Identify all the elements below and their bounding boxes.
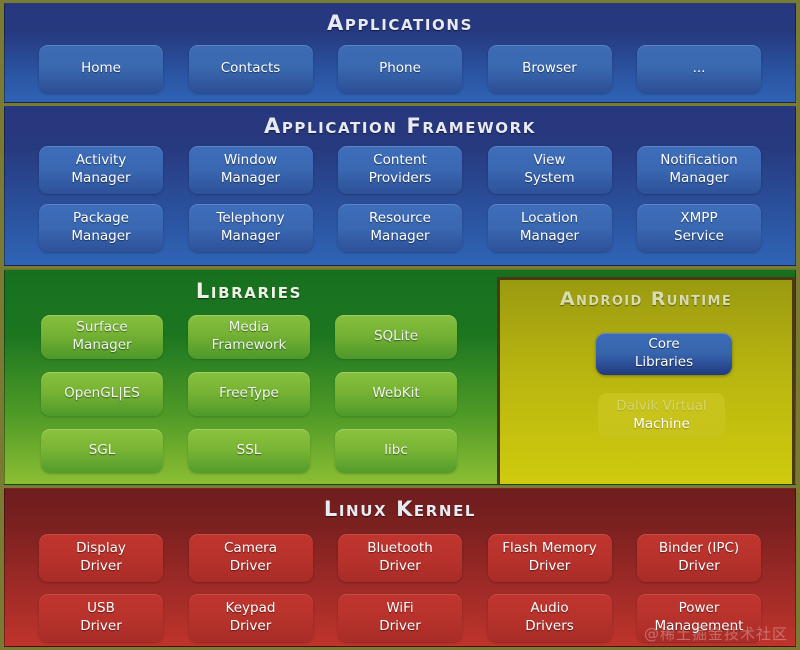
box-line-1: Camera — [224, 540, 277, 558]
kernel-box-display-driver[interactable]: Display Driver — [39, 534, 163, 582]
layer-title-linux-kernel: Linux Kernel — [5, 499, 795, 520]
box-line-2: Driver — [230, 558, 272, 576]
library-box-surface-manager[interactable]: Surface Manager — [41, 315, 163, 359]
libraries-row-2: OpenGL|ES FreeType WebKit — [5, 372, 493, 416]
box-line-2: Driver — [379, 558, 421, 576]
library-box-media-framework[interactable]: Media Framework — [188, 315, 310, 359]
box-line-1: XMPP — [680, 210, 717, 228]
layer-application-framework: Application Framework Activity Manager W… — [4, 106, 796, 266]
box-line-1: WebKit — [372, 385, 419, 403]
box-line-2: Libraries — [635, 354, 693, 372]
box-line-2: Manager — [669, 170, 728, 188]
kernel-box-binder-ipc-driver[interactable]: Binder (IPC) Driver — [637, 534, 761, 582]
library-box-libc[interactable]: libc — [335, 429, 457, 473]
box-line-1: Core — [648, 336, 679, 354]
box-line-1: View — [533, 152, 565, 170]
box-line-2: Driver — [230, 618, 272, 636]
box-line-1: WiFi — [386, 600, 413, 618]
box-line-1: Flash Memory — [502, 540, 597, 558]
box-line-1: Browser — [522, 60, 577, 78]
box-line-1: ... — [693, 60, 706, 78]
box-line-2: System — [524, 170, 574, 188]
layer-title-libraries: Libraries — [5, 281, 493, 302]
box-line-1: Location — [521, 210, 578, 228]
box-line-1: Display — [76, 540, 126, 558]
app-box-contacts[interactable]: Contacts — [189, 45, 313, 93]
box-line-1: SGL — [89, 442, 116, 460]
android-runtime-panel: Android Runtime Core Libraries Dalvik Vi… — [497, 277, 795, 485]
box-line-2: Management — [655, 618, 744, 636]
box-line-2: Manager — [72, 337, 131, 355]
box-line-2: Providers — [369, 170, 432, 188]
kernel-box-power-management[interactable]: Power Management — [637, 594, 761, 642]
framework-box-location-manager[interactable]: Location Manager — [488, 204, 612, 252]
box-line-2: Service — [674, 228, 724, 246]
box-line-2: Driver — [678, 558, 720, 576]
box-line-1: SQLite — [374, 328, 418, 346]
box-line-1: Audio — [530, 600, 568, 618]
box-line-1: Home — [81, 60, 121, 78]
kernel-box-audio-drivers[interactable]: Audio Drivers — [488, 594, 612, 642]
layer-linux-kernel: Linux Kernel Display Driver Camera Drive… — [4, 488, 796, 647]
box-line-1: Power — [679, 600, 720, 618]
framework-row-1: Activity Manager Window Manager Content … — [5, 146, 795, 194]
library-box-sgl[interactable]: SGL — [41, 429, 163, 473]
framework-box-window-manager[interactable]: Window Manager — [189, 146, 313, 194]
layer-title-application-framework: Application Framework — [5, 116, 795, 137]
library-box-ssl[interactable]: SSL — [188, 429, 310, 473]
kernel-box-keypad-driver[interactable]: Keypad Driver — [189, 594, 313, 642]
box-line-1: USB — [87, 600, 115, 618]
library-box-sqlite[interactable]: SQLite — [335, 315, 457, 359]
framework-box-telephony-manager[interactable]: Telephony Manager — [189, 204, 313, 252]
box-line-2: Driver — [80, 558, 122, 576]
framework-box-view-system[interactable]: View System — [488, 146, 612, 194]
box-line-2: Manager — [370, 228, 429, 246]
app-box-more[interactable]: ... — [637, 45, 761, 93]
box-line-1: Surface — [76, 319, 127, 337]
box-line-2: Manager — [221, 228, 280, 246]
library-box-freetype[interactable]: FreeType — [188, 372, 310, 416]
runtime-box-dalvik-virtual-machine[interactable]: Dalvik Virtual Machine — [598, 393, 725, 439]
box-line-1: Keypad — [226, 600, 276, 618]
box-line-2: Manager — [71, 170, 130, 188]
box-line-2: Machine — [633, 416, 690, 434]
box-line-1: Media — [229, 319, 270, 337]
libraries-row-3: SGL SSL libc — [5, 429, 493, 473]
framework-box-activity-manager[interactable]: Activity Manager — [39, 146, 163, 194]
box-line-1: Notification — [660, 152, 737, 170]
box-line-1: OpenGL|ES — [64, 385, 140, 403]
library-box-opengl-es[interactable]: OpenGL|ES — [41, 372, 163, 416]
kernel-row-1: Display Driver Camera Driver Bluetooth D… — [5, 534, 795, 582]
runtime-box-core-libraries[interactable]: Core Libraries — [596, 333, 732, 375]
box-line-1: Window — [224, 152, 277, 170]
box-line-1: SSL — [237, 442, 262, 460]
app-box-phone[interactable]: Phone — [338, 45, 462, 93]
box-line-1: Dalvik Virtual — [616, 398, 706, 416]
box-line-2: Driver — [379, 618, 421, 636]
box-line-2: Manager — [520, 228, 579, 246]
app-box-browser[interactable]: Browser — [488, 45, 612, 93]
box-line-1: Activity — [76, 152, 127, 170]
box-line-1: Content — [373, 152, 427, 170]
kernel-box-wifi-driver[interactable]: WiFi Driver — [338, 594, 462, 642]
box-line-2: Drivers — [525, 618, 574, 636]
framework-box-resource-manager[interactable]: Resource Manager — [338, 204, 462, 252]
kernel-row-2: USB Driver Keypad Driver WiFi Driver Aud… — [5, 594, 795, 642]
box-line-1: Binder (IPC) — [659, 540, 739, 558]
box-line-1: libc — [384, 442, 408, 460]
box-line-1: Resource — [369, 210, 431, 228]
box-line-2: Manager — [71, 228, 130, 246]
box-line-1: Telephony — [216, 210, 284, 228]
layer-title-android-runtime: Android Runtime — [500, 290, 792, 309]
libraries-column: Libraries Surface Manager Media Framewor… — [5, 281, 493, 473]
box-line-2: Driver — [80, 618, 122, 636]
box-line-1: Contacts — [221, 60, 281, 78]
layer-applications: Applications Home Contacts Phone Browser… — [4, 3, 796, 103]
kernel-box-flash-memory-driver[interactable]: Flash Memory Driver — [488, 534, 612, 582]
box-line-2: Framework — [212, 337, 287, 355]
framework-box-content-providers[interactable]: Content Providers — [338, 146, 462, 194]
box-line-1: Bluetooth — [367, 540, 433, 558]
app-box-home[interactable]: Home — [39, 45, 163, 93]
box-line-2: Driver — [529, 558, 571, 576]
layer-libraries-and-runtime: Libraries Surface Manager Media Framewor… — [4, 269, 796, 485]
box-line-1: FreeType — [219, 385, 279, 403]
kernel-box-bluetooth-driver[interactable]: Bluetooth Driver — [338, 534, 462, 582]
libraries-row-1: Surface Manager Media Framework SQLite — [5, 315, 493, 359]
framework-box-package-manager[interactable]: Package Manager — [39, 204, 163, 252]
box-line-1: Phone — [379, 60, 421, 78]
kernel-box-usb-driver[interactable]: USB Driver — [39, 594, 163, 642]
box-line-2: Manager — [221, 170, 280, 188]
layer-title-applications: Applications — [5, 13, 795, 34]
framework-row-2: Package Manager Telephony Manager Resour… — [5, 204, 795, 252]
kernel-box-camera-driver[interactable]: Camera Driver — [189, 534, 313, 582]
android-architecture-diagram: Applications Home Contacts Phone Browser… — [0, 0, 800, 650]
box-line-1: Package — [73, 210, 129, 228]
library-box-webkit[interactable]: WebKit — [335, 372, 457, 416]
framework-box-xmpp-service[interactable]: XMPP Service — [637, 204, 761, 252]
applications-row-1: Home Contacts Phone Browser ... — [5, 45, 795, 93]
framework-box-notification-manager[interactable]: Notification Manager — [637, 146, 761, 194]
